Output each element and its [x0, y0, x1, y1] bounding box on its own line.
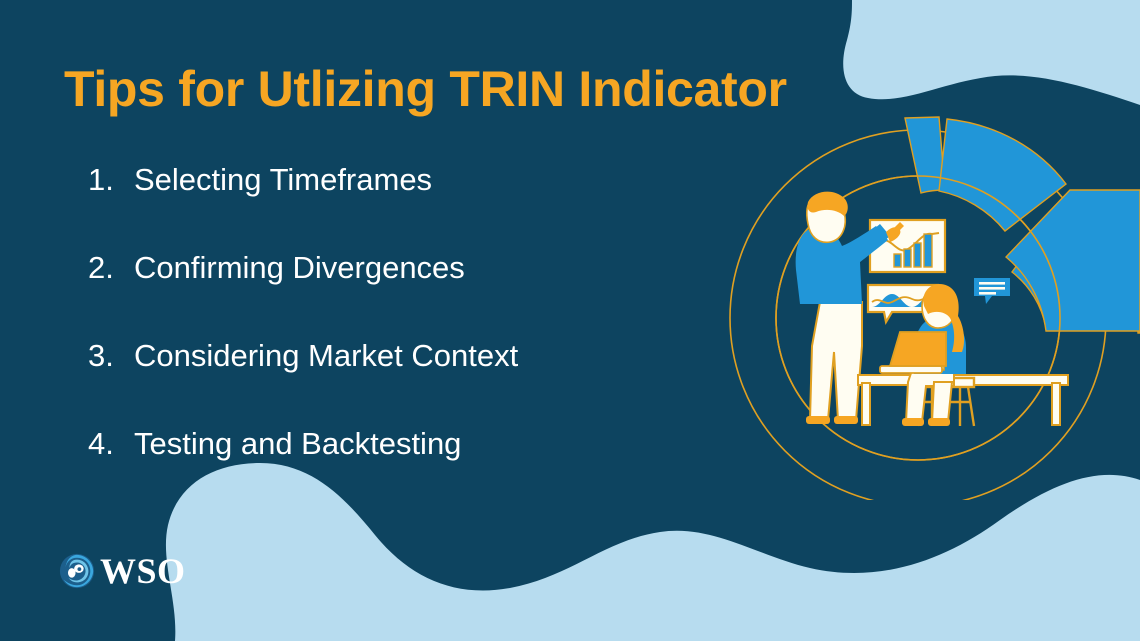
list-item: 2. Confirming Divergences [88, 250, 708, 338]
list-item-number: 1. [88, 162, 134, 198]
bar [904, 249, 911, 267]
pie-wedge-small [905, 117, 945, 193]
list-item-number: 2. [88, 250, 134, 286]
wso-logo[interactable]: WSO [58, 550, 186, 592]
bar [924, 234, 932, 267]
laptop-screen [890, 332, 946, 366]
message-speech-bubble [974, 278, 1010, 304]
tips-list: 1. Selecting Timeframes 2. Confirming Di… [88, 162, 708, 514]
list-item-label: Testing and Backtesting [134, 426, 461, 462]
list-item-label: Selecting Timeframes [134, 162, 432, 198]
woman-shoe-right [928, 418, 950, 426]
bar [894, 254, 901, 267]
slide: Tips for Utlizing TRIN Indicator 1. Sele… [0, 0, 1140, 641]
man-shoe-left [806, 416, 830, 424]
data-analysis-team-illustration [700, 90, 1140, 500]
woman-shoe-left [902, 418, 924, 426]
man-legs [810, 302, 862, 420]
list-item-number: 3. [88, 338, 134, 374]
man-shoe-right [834, 416, 858, 424]
wso-logo-text: WSO [100, 553, 186, 589]
list-item-label: Confirming Divergences [134, 250, 465, 286]
wso-swirl-icon [58, 552, 96, 590]
page-title: Tips for Utlizing TRIN Indicator [64, 60, 787, 118]
woman-legs-2 [932, 382, 952, 422]
list-item: 4. Testing and Backtesting [88, 426, 708, 514]
bar [914, 243, 921, 267]
list-item: 1. Selecting Timeframes [88, 162, 708, 250]
list-item-number: 4. [88, 426, 134, 462]
list-item-label: Considering Market Context [134, 338, 518, 374]
laptop-base [880, 366, 942, 373]
list-item: 3. Considering Market Context [88, 338, 708, 426]
